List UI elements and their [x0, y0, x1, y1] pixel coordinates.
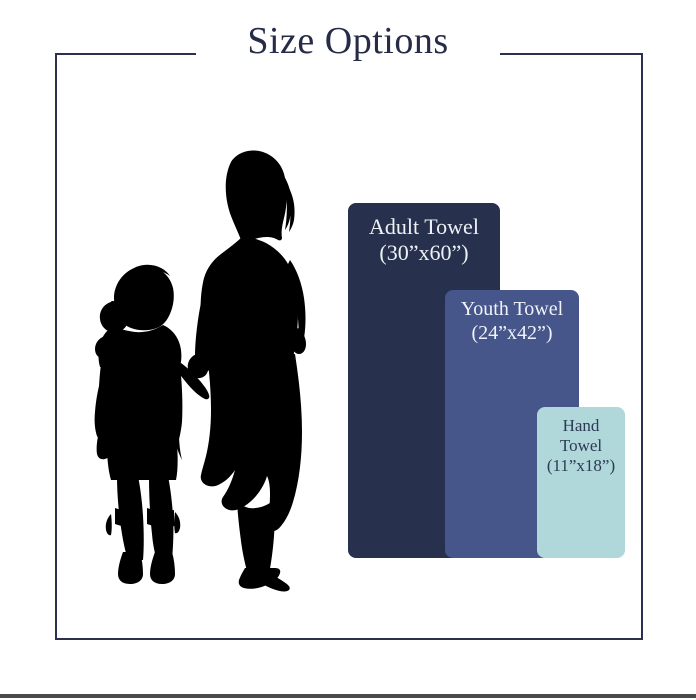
- bar-hand-towel[interactable]: Hand Towel (11”x18”): [537, 407, 625, 558]
- bar-label-adult-towel: Adult Towel (30”x60”): [348, 214, 500, 266]
- bar-label-hand-towel: Hand Towel (11”x18”): [537, 416, 625, 476]
- bottom-rule: [0, 694, 696, 698]
- towel-size-bar-chart: Adult Towel (30”x60”) Youth Towel (24”x4…: [0, 0, 696, 700]
- size-options-infographic: Size Options: [0, 0, 696, 700]
- bar-label-youth-towel: Youth Towel (24”x42”): [445, 298, 579, 345]
